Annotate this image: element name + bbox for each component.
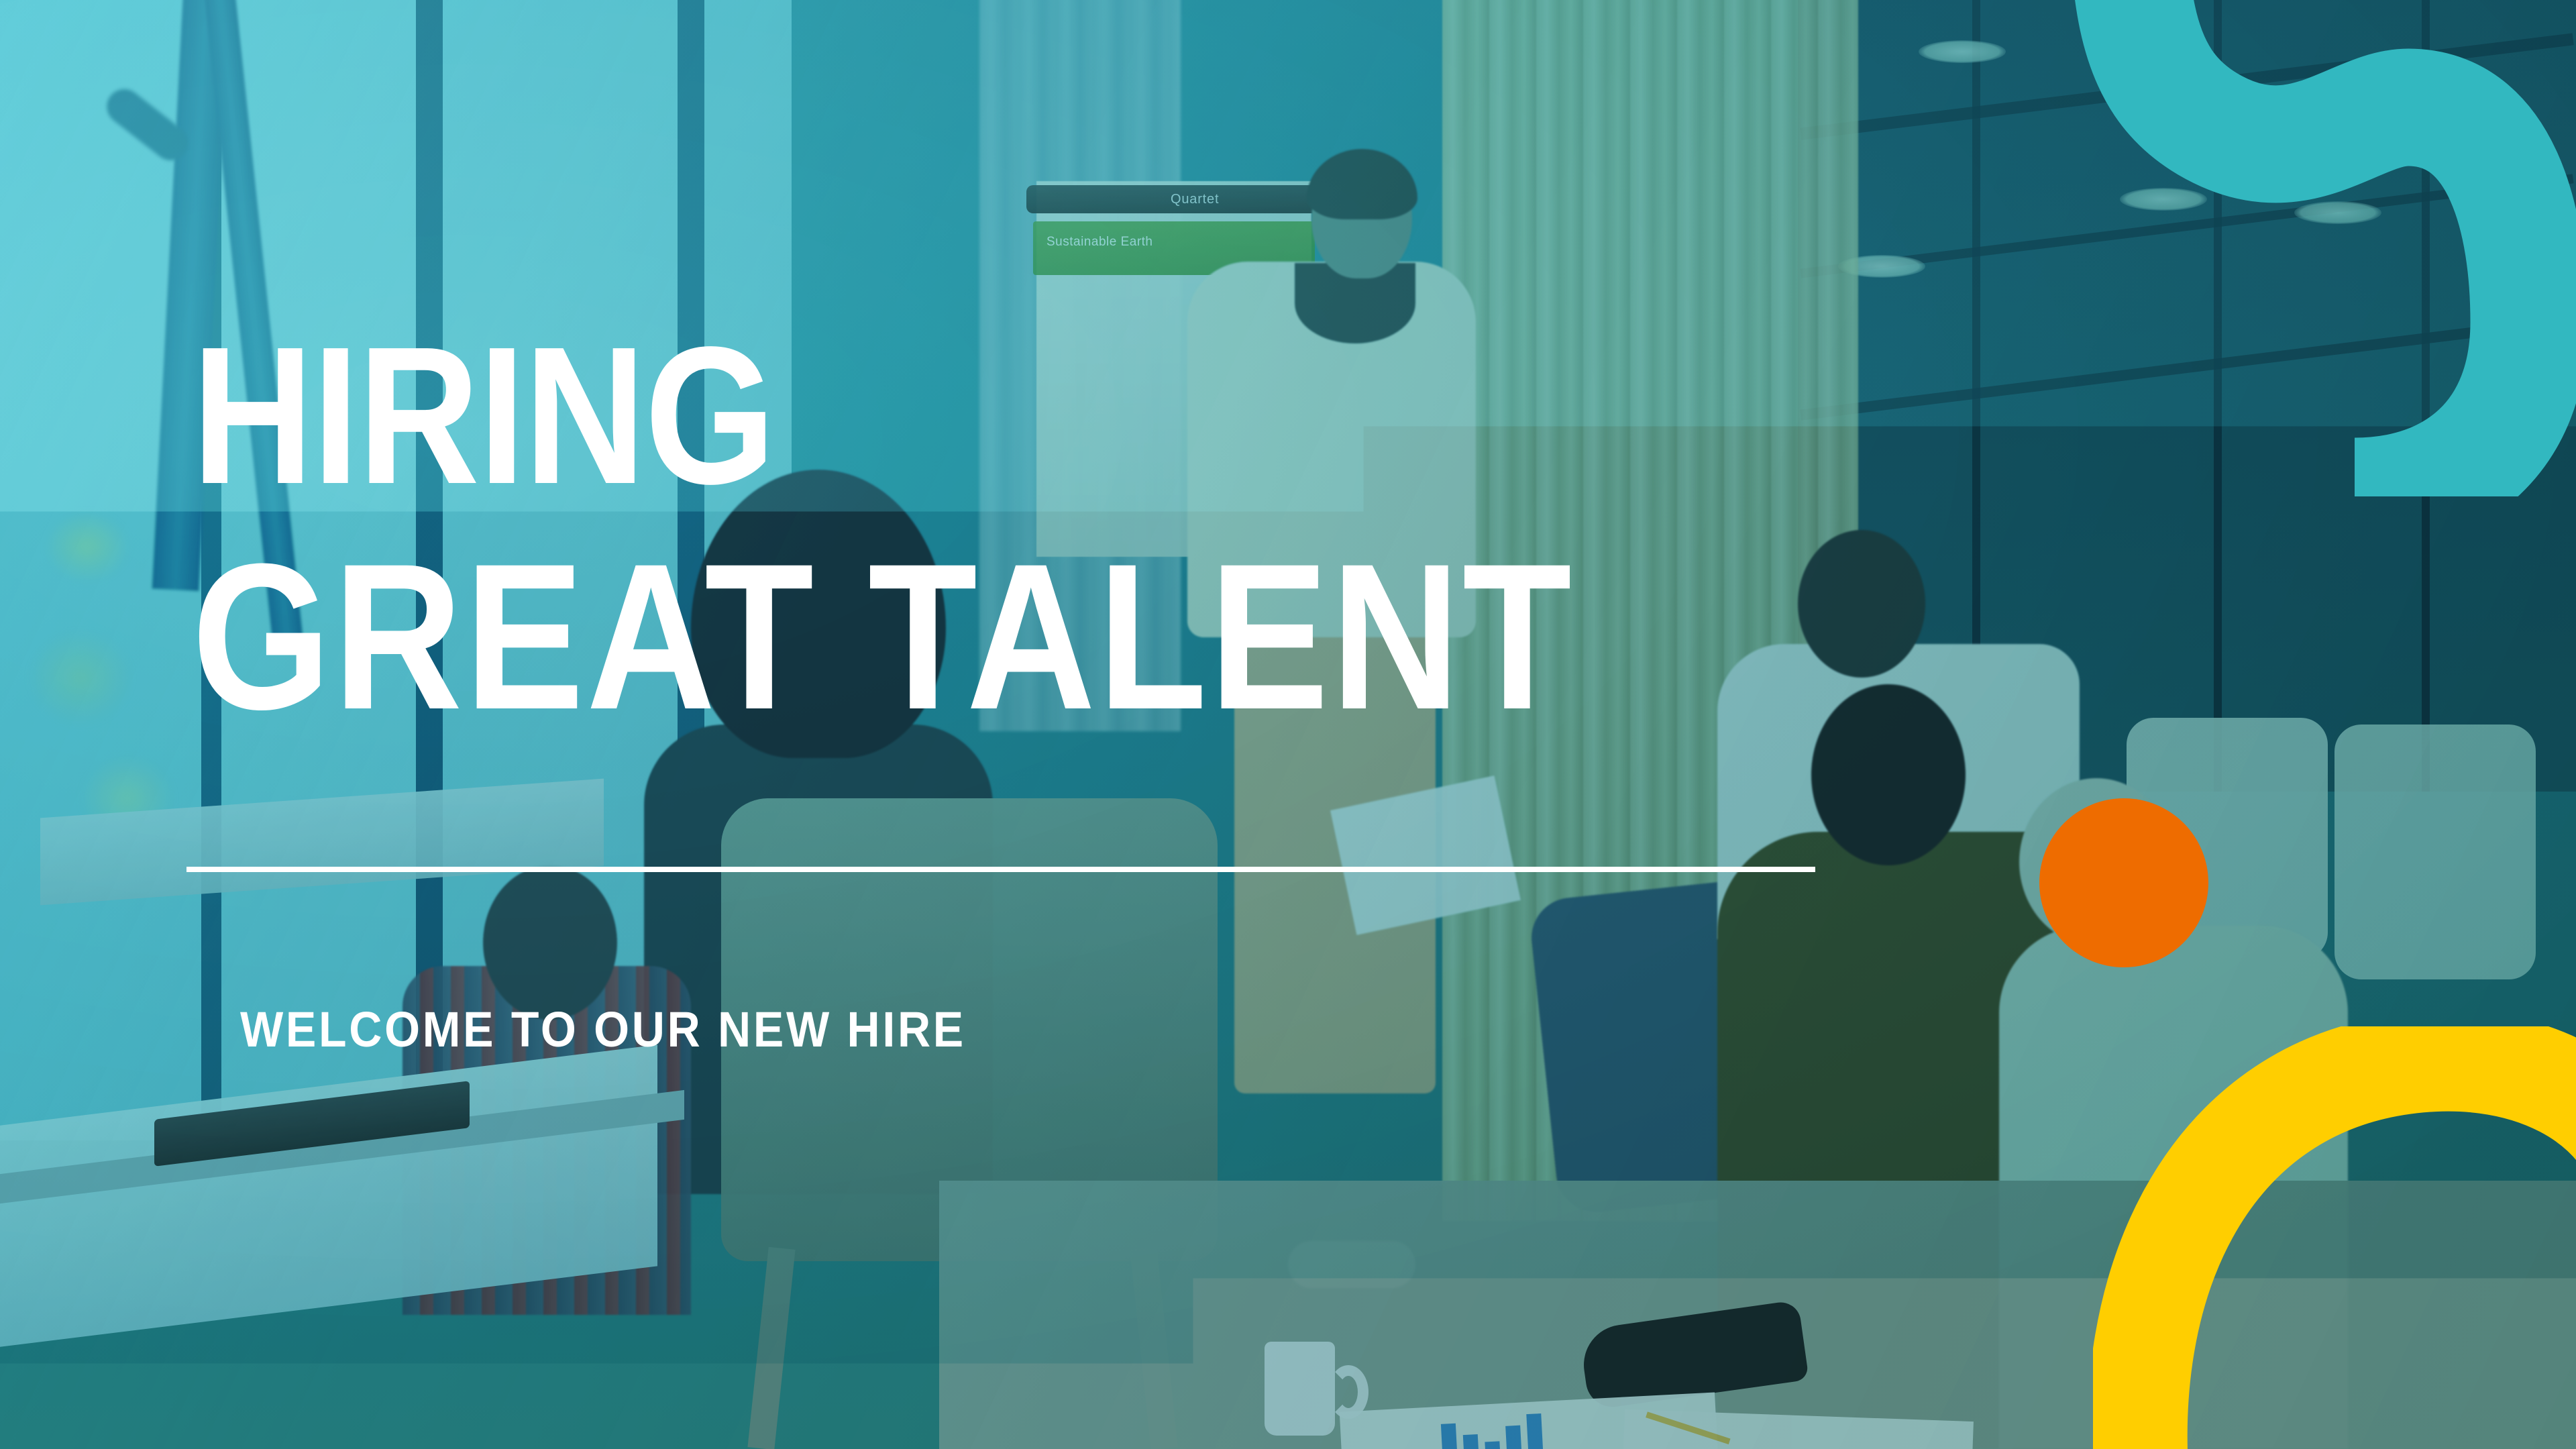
hiring-poster: Quartet Sustainable Earth — [0, 0, 2576, 1449]
poster-text: HIRING GREAT TALENT WELCOME TO OUR NEW H… — [0, 0, 2576, 1449]
headline-line-2: GREAT TALENT — [192, 551, 1574, 722]
headline-line-1: HIRING — [192, 335, 775, 496]
white-divider-rule — [186, 867, 1815, 872]
subheadline: WELCOME TO OUR NEW HIRE — [240, 1001, 966, 1058]
